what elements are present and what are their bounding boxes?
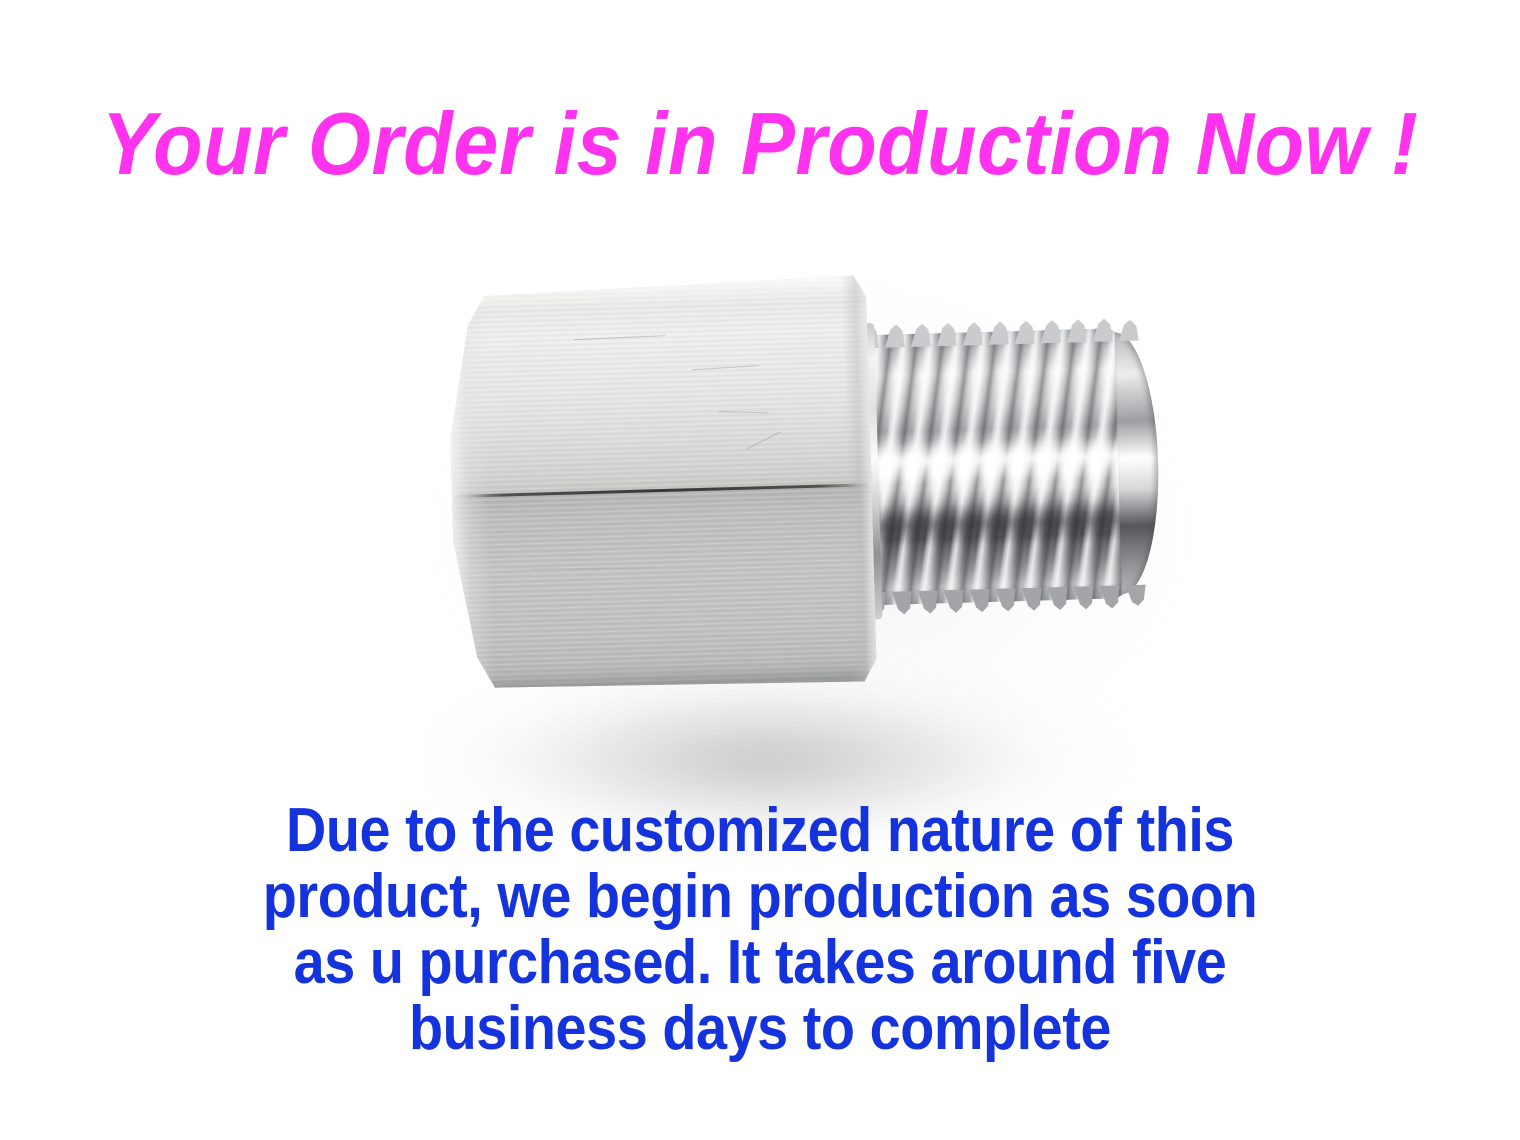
page-title: Your Order is in Production Now ! — [61, 96, 1459, 192]
hex-machining-striations — [446, 273, 877, 695]
notice-line: business days to complete — [193, 996, 1327, 1062]
threaded-end — [850, 327, 1157, 605]
product-photo — [0, 200, 1520, 800]
notice-line: product, we begin production as soon — [193, 864, 1327, 930]
hex-body — [446, 273, 877, 695]
hex-body-silhouette — [446, 273, 877, 695]
thread-shadow-band — [855, 497, 1156, 549]
notice-line: as u purchased. It takes around five — [193, 930, 1327, 996]
promo-image: Your Order is in Production Now ! — [0, 0, 1520, 1140]
production-notice: Due to the customized nature of this pro… — [193, 798, 1327, 1062]
pipe-adapter-fitting — [0, 177, 1520, 819]
thread-barrel — [850, 327, 1157, 605]
thread-specular-highlight — [853, 435, 1154, 484]
notice-line: Due to the customized nature of this — [193, 798, 1327, 864]
